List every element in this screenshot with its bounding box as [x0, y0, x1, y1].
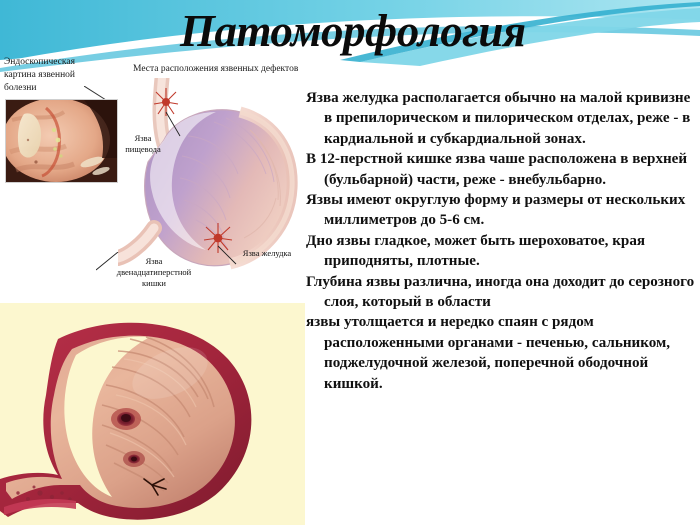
diagram-caption: Места расположения язвенных дефектов: [133, 64, 333, 74]
diagram-label-esophageal-line2: пищевода: [113, 144, 173, 155]
body-paragraph-5-lead: Глубина язвы различна, иногда она доходи…: [306, 274, 606, 290]
ulcer-crater-small: [123, 451, 145, 467]
slide-canvas: Патоморфология Эндоскопическая картина я…: [0, 0, 700, 525]
page-title: Патоморфология: [180, 2, 680, 62]
diagram-label-esophageal-line1: Язва: [113, 133, 173, 144]
body-paragraph-3-lead: Язвы имеют округлую форму и размеры: [306, 192, 583, 208]
diagram-label-duodenal-line3: кишки: [100, 278, 208, 289]
ulcer-crater-large: [111, 408, 141, 430]
body-paragraph-6-rest: расположенными органами - печенью, сальн…: [324, 335, 670, 392]
body-paragraph-3: Язвы имеют округлую форму и размеры от н…: [306, 190, 698, 231]
gross-stomach-ulcer-specimen: [0, 303, 305, 525]
endoscopic-ulcer-photo: [5, 99, 118, 183]
duodenal-pointer-line: [96, 252, 122, 274]
body-paragraph-6-lead: язвы утолщается и нередко спаян с рядом: [306, 314, 594, 330]
body-text: Язва желудка располагается обычно на мал…: [306, 88, 698, 518]
body-paragraph-4: Дно язвы гладкое, может быть шероховатое…: [306, 231, 698, 272]
body-paragraph-2: В 12-перстной кишке язва чаше расположен…: [306, 149, 698, 190]
body-paragraph-6: язвы утолщается и нередко спаян с рядом …: [306, 312, 698, 394]
diagram-label-esophageal: Язва пищевода: [113, 133, 173, 155]
body-paragraph-1: Язва желудка располагается обычно на мал…: [306, 88, 698, 149]
body-paragraph-5: Глубина язвы различна, иногда она доходи…: [306, 272, 698, 313]
diagram-label-gastric-line1: Язва желудка: [228, 248, 306, 259]
body-paragraph-4-lead: Дно язвы гладкое, может быть шероховатое…: [306, 233, 645, 269]
body-paragraph-1-lead: Язва желудка располагается обычно на: [306, 90, 576, 106]
body-paragraph-2-lead: В 12-перстной кишке язва чаше расположен…: [306, 151, 687, 187]
diagram-label-gastric: Язва желудка: [228, 248, 306, 259]
